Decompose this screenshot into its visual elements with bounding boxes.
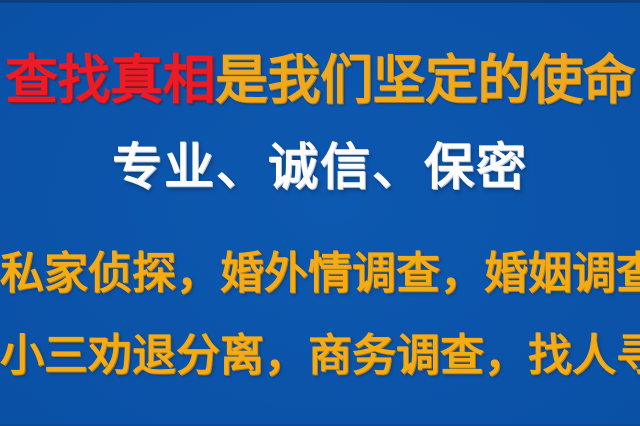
services-list-line-2: 小三劝退分离，商务调查，找人寻人 xyxy=(0,334,640,378)
headline-slogan: 查找真相是我们坚定的使命 xyxy=(0,54,640,107)
top-edge-divider xyxy=(0,0,640,3)
advertisement-banner: 查找真相是我们坚定的使命 专业、诚信、保密 私家侦探，婚外情调查，婚姻调查， 小… xyxy=(0,0,640,426)
headline-rest-text: 是我们坚定的使命 xyxy=(215,50,635,111)
services-list-line-1: 私家侦探，婚外情调查，婚姻调查， xyxy=(0,252,640,296)
values-tagline: 专业、诚信、保密 xyxy=(0,142,640,192)
headline-emphasis-text: 查找真相 xyxy=(5,50,215,111)
